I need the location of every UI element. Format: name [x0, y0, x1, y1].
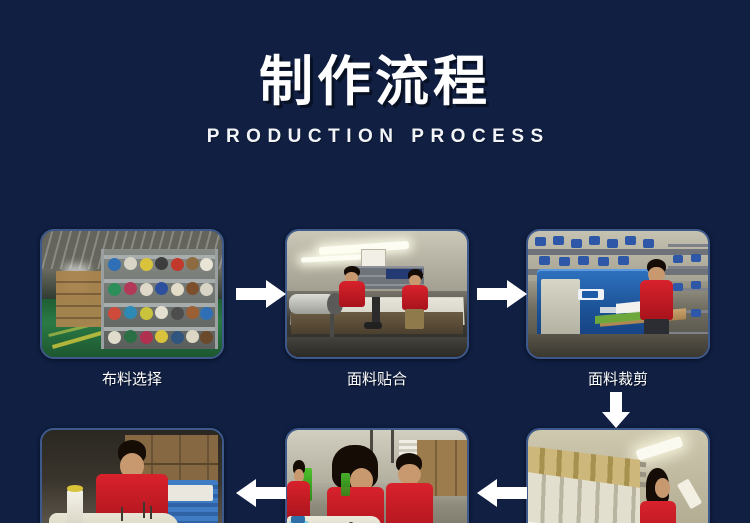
photo-frame-fabric-selection — [40, 229, 224, 359]
arrow-left-icon — [477, 477, 527, 509]
arrow-right-icon — [477, 278, 527, 310]
process-step-2: 面料贴合 — [285, 229, 469, 388]
banner-header: 制作流程 PRODUCTION PROCESS — [0, 0, 750, 148]
photo-frame-embroidery — [526, 428, 710, 523]
photo-cutting-machine — [528, 231, 708, 357]
process-step-4 — [40, 428, 224, 523]
photo-sewing-worker — [42, 430, 222, 523]
photo-sewing-line — [287, 430, 467, 523]
photo-frame-fabric-cutting — [526, 229, 710, 359]
page-subtitle: PRODUCTION PROCESS — [0, 112, 750, 148]
photo-fabric-bonding — [287, 231, 467, 357]
photo-frame-sewing-single — [40, 428, 224, 523]
page-title: 制作流程 — [0, 0, 750, 112]
production-process-banner: 制作流程 PRODUCTION PROCESS — [0, 0, 750, 523]
photo-frame-fabric-bonding — [285, 229, 469, 359]
arrow-left-icon — [236, 477, 286, 509]
step-caption: 布料选择 — [40, 359, 224, 388]
step-caption: 面料贴合 — [285, 359, 469, 388]
arrow-down-icon — [600, 392, 632, 428]
photo-frame-sewing-line — [285, 428, 469, 523]
process-step-5 — [285, 428, 469, 523]
process-step-3: 面料裁剪 — [526, 229, 710, 388]
photo-embroidery-machines — [528, 430, 708, 523]
process-step-6 — [526, 428, 710, 523]
photo-fabric-warehouse — [42, 231, 222, 357]
arrow-right-icon — [236, 278, 286, 310]
step-caption: 面料裁剪 — [526, 359, 710, 388]
process-step-1: 布料选择 — [40, 229, 224, 388]
